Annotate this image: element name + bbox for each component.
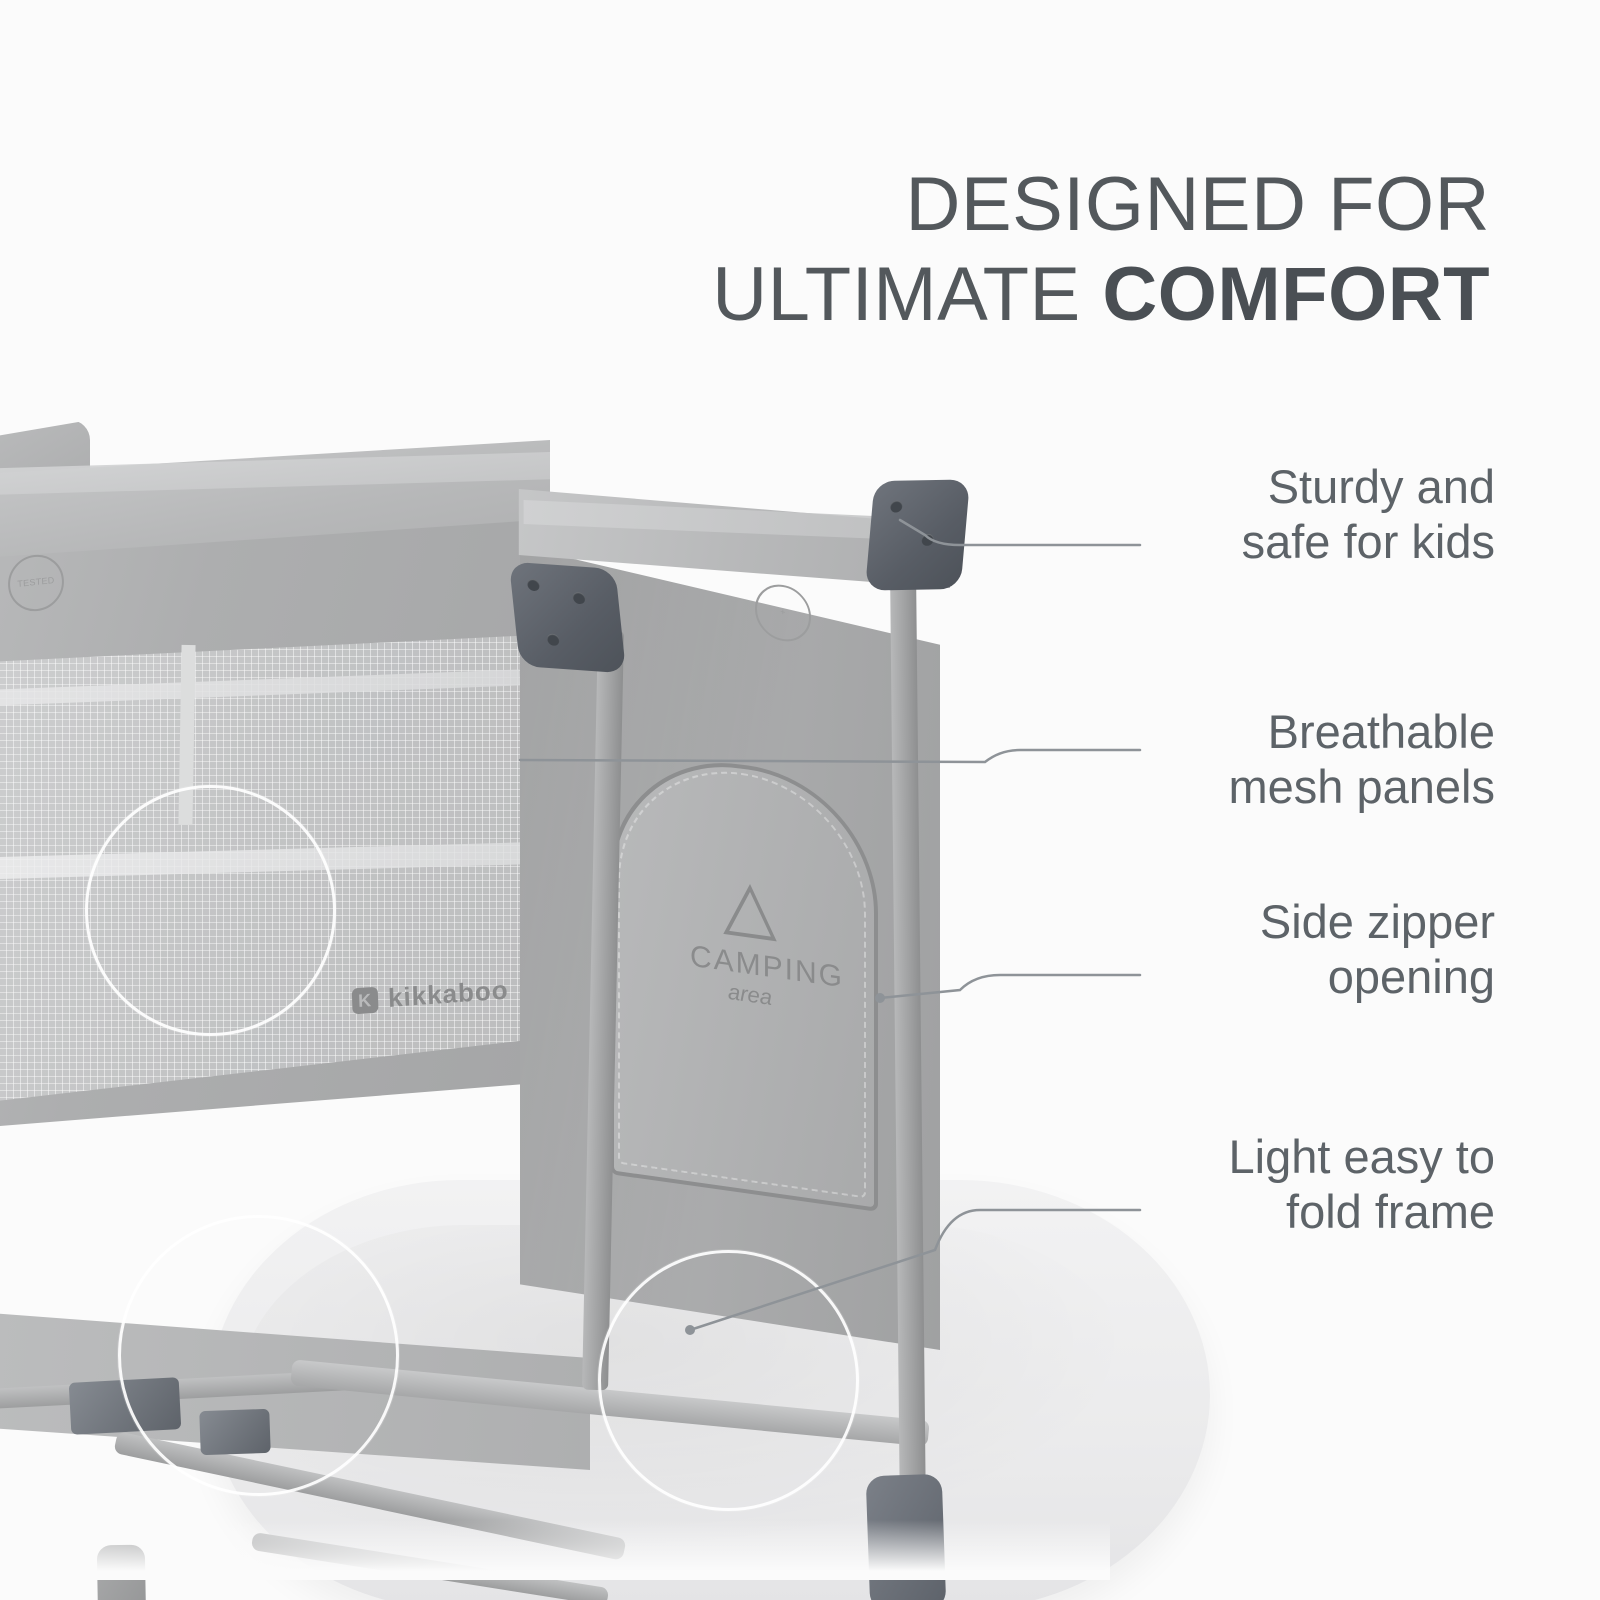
- leader-endpoint-4: [685, 1325, 695, 1335]
- callout-breathable-mesh: Breathable mesh panels: [1065, 705, 1495, 815]
- product-feature-graphic: △ CAMPING area: [0, 0, 1600, 1600]
- callout-2-line-1: Breathable: [1065, 705, 1495, 760]
- headline-line-2: ULTIMATE COMFORT: [440, 250, 1490, 340]
- callout-side-zipper: Side zipper opening: [1065, 895, 1495, 1005]
- headline-bold: COMFORT: [1102, 252, 1490, 337]
- headline-light: ULTIMATE: [712, 252, 1102, 337]
- callout-4-line-2: fold frame: [1065, 1185, 1495, 1240]
- callout-4-line-1: Light easy to: [1065, 1130, 1495, 1185]
- headline-line-1: DESIGNED FOR: [440, 160, 1490, 250]
- leader-line-2: [520, 750, 1140, 762]
- callout-sturdy-safe: Sturdy and safe for kids: [1065, 460, 1495, 570]
- callout-fold-frame: Light easy to fold frame: [1065, 1130, 1495, 1240]
- page-title: DESIGNED FOR ULTIMATE COMFORT: [440, 160, 1490, 339]
- callout-3-line-1: Side zipper: [1065, 895, 1495, 950]
- callout-3-line-2: opening: [1065, 950, 1495, 1005]
- callout-2-line-2: mesh panels: [1065, 760, 1495, 815]
- leader-endpoint-3: [875, 993, 885, 1003]
- callout-1-line-1: Sturdy and: [1065, 460, 1495, 515]
- callout-1-line-2: safe for kids: [1065, 515, 1495, 570]
